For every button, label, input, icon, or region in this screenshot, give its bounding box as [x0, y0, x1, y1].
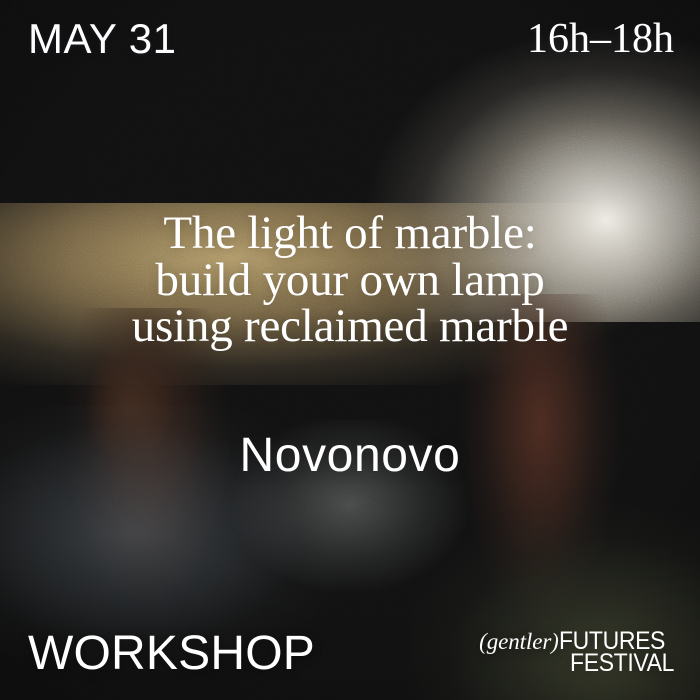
festival-logo: (gentler)FUTURES FESTIVAL — [479, 629, 674, 678]
event-artist-name: Novonovo — [0, 432, 700, 480]
event-title: The light of marble: build your own lamp… — [0, 210, 700, 350]
poster-content: MAY 31 16h–18h The light of marble: buil… — [0, 0, 700, 700]
poster-footer: WORKSHOP (gentler)FUTURES FESTIVAL — [28, 629, 674, 678]
event-title-line-3: using reclaimed marble — [0, 303, 700, 350]
event-poster: MAY 31 16h–18h The light of marble: buil… — [0, 0, 700, 700]
event-date: MAY 31 — [28, 18, 177, 60]
event-time: 16h–18h — [527, 18, 674, 60]
poster-header: MAY 31 16h–18h — [28, 18, 674, 60]
event-category: WORKSHOP — [28, 630, 315, 678]
festival-logo-line-2: FESTIVAL — [479, 651, 674, 676]
festival-logo-gentler: (gentler) — [479, 629, 559, 654]
festival-logo-festival: FESTIVAL — [570, 651, 674, 676]
event-title-line-2: build your own lamp — [0, 257, 700, 304]
event-title-line-1: The light of marble: — [0, 210, 700, 257]
